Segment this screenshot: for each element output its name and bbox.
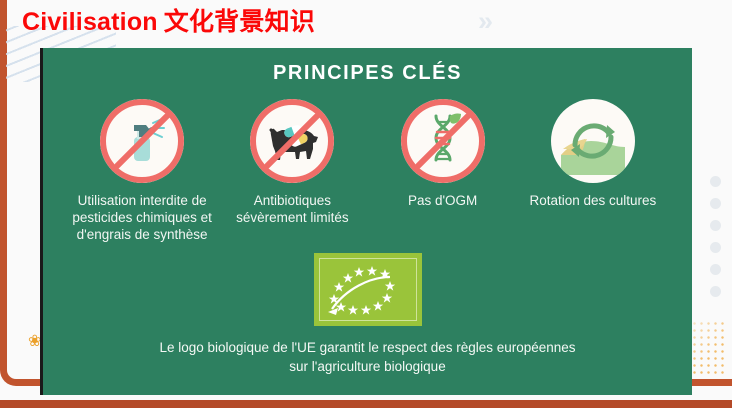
dot: [710, 198, 721, 209]
principles-row: Utilisation interdite de pesticides chim…: [43, 99, 692, 243]
no-antibiotics-cow-pills-icon: [250, 99, 334, 183]
caption-line-2: sur l'agriculture biologique: [83, 357, 652, 376]
slide-title-french: Civilisation: [22, 8, 158, 36]
slide-canvas: » ❀ Civilisation文化背景知识 PRINCIPES CLÉS: [0, 0, 732, 408]
frame-left-accent-bar: [0, 0, 7, 340]
double-chevron-icon: »: [478, 8, 518, 34]
caption-line-1: Le logo biologique de l'UE garantit le r…: [83, 338, 652, 357]
crop-rotation-arrows-icon: [551, 99, 635, 183]
dot: [710, 242, 721, 253]
frame-bottom-strip: [0, 400, 732, 408]
principles-panel: PRINCIPES CLÉS: [40, 48, 692, 395]
dot: [710, 286, 721, 297]
slide-title-chinese: 文化背景知识: [164, 8, 315, 36]
slide-title: Civilisation文化背景知识: [22, 2, 315, 38]
panel-heading: PRINCIPES CLÉS: [43, 62, 692, 85]
panel-caption: Le logo biologique de l'UE garantit le r…: [43, 338, 692, 376]
eu-logo-inner-border: [319, 258, 417, 321]
principle-item: Utilisation interdite de pesticides chim…: [67, 99, 217, 243]
eu-logo-wrapper: [43, 253, 692, 326]
principle-label: Pas d'OGM: [408, 192, 477, 209]
dot-column-decoration: [710, 176, 721, 297]
principle-label: Utilisation interdite de pesticides chim…: [67, 192, 217, 243]
dot: [710, 264, 721, 275]
dot: [710, 220, 721, 231]
no-pesticide-spray-bottle-icon: [100, 99, 184, 183]
principle-item: Pas d'OGM: [368, 99, 518, 209]
no-gmo-dna-helix-icon: [401, 99, 485, 183]
principle-label: Antibiotiques sévèrement limités: [217, 192, 367, 226]
principle-item: Antibiotiques sévèrement limités: [217, 99, 367, 226]
principle-item: Rotation des cultures: [518, 99, 668, 209]
principle-label: Rotation des cultures: [529, 192, 656, 209]
eu-organic-euro-leaf-logo: [314, 253, 422, 326]
dot: [710, 176, 721, 187]
